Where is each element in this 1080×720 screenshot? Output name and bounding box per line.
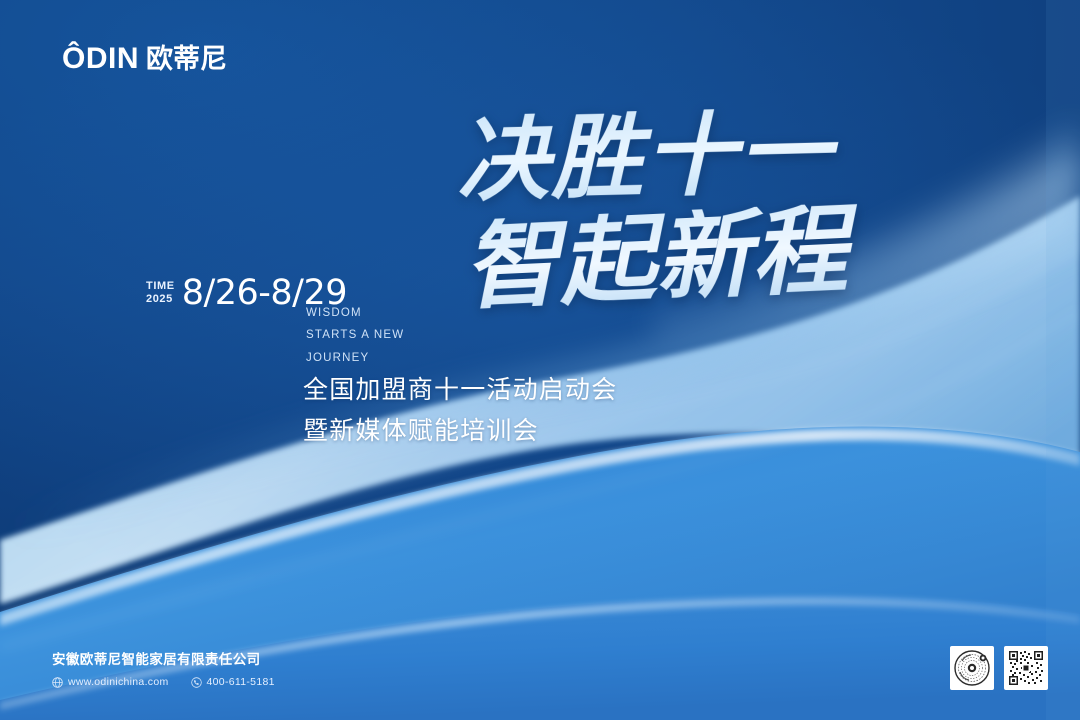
globe-icon: [52, 677, 63, 688]
brand-logo-cn: 欧蒂尼: [146, 46, 227, 73]
wechat-qr-code[interactable]: [1004, 646, 1048, 690]
phone-number: 400-611-5181: [207, 676, 275, 688]
phone-icon: [191, 677, 202, 688]
brand-logo[interactable]: ÔDIN 欧蒂尼: [62, 44, 227, 74]
website-url: www.odinichina.com: [68, 676, 169, 688]
contact-info: www.odinichina.com 400-611-5181: [52, 676, 275, 688]
company-name: 安徽欧蒂尼智能家居有限责任公司: [52, 651, 275, 669]
subtitle-line-2: 暨新媒体赋能培训会: [303, 411, 617, 452]
event-date-label-time: TIME: [146, 280, 175, 292]
website-contact[interactable]: www.odinichina.com: [52, 676, 169, 688]
event-subtitle: 全国加盟商十一活动启动会 暨新媒体赋能培训会: [303, 370, 617, 451]
qr-code-group: [950, 646, 1048, 690]
event-poster: ÔDIN 欧蒂尼 决胜十一 智起新程 TIME 2025 8/26-8/29 W…: [0, 0, 1080, 720]
english-tagline: WISDOM STARTS A NEW JOURNEY: [306, 302, 404, 369]
footer: 安徽欧蒂尼智能家居有限责任公司 www.odinichina.com: [52, 651, 275, 688]
odin-logo-icon: ÔDIN: [62, 44, 139, 74]
event-date-label: TIME 2025: [146, 280, 175, 311]
event-date-label-year: 2025: [146, 293, 175, 305]
headline-line-1: 决胜十一: [456, 104, 918, 209]
phone-contact[interactable]: 400-611-5181: [191, 676, 275, 688]
tagline-line-1: WISDOM: [306, 302, 404, 324]
headline-line-2: 智起新程: [461, 199, 921, 316]
subtitle-line-1: 全国加盟商十一活动启动会: [303, 370, 617, 411]
tagline-line-2: STARTS A NEW: [306, 324, 404, 346]
douyin-qr-code[interactable]: [950, 646, 994, 690]
tagline-line-3: JOURNEY: [306, 347, 404, 369]
headline: 决胜十一 智起新程: [446, 104, 921, 311]
